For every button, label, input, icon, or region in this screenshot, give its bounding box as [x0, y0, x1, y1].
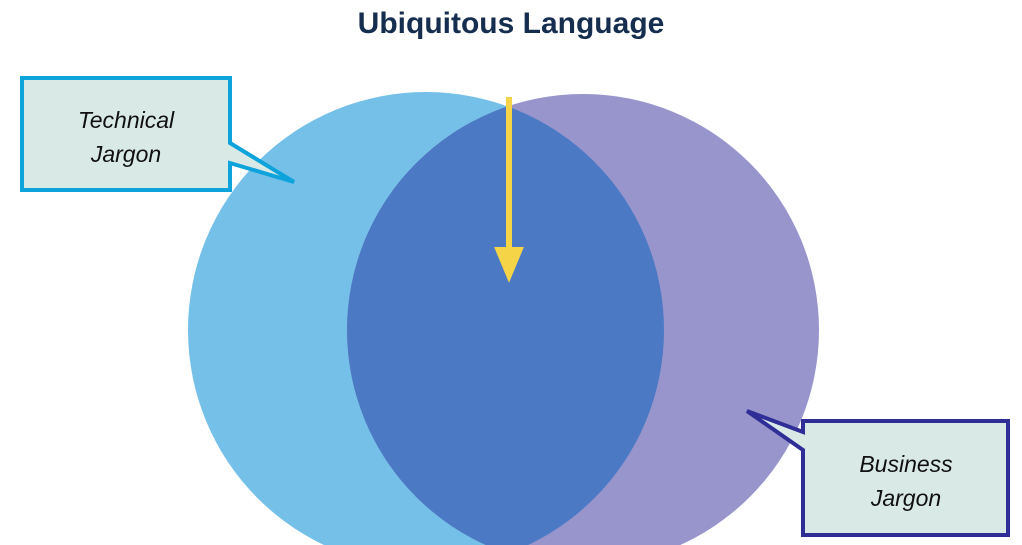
callout-technical-line1: Technical: [78, 107, 175, 133]
venn-diagram-figure: Ubiquitous Language Technical Jargon Bus…: [0, 0, 1022, 545]
callout-business-line1: Business: [859, 451, 953, 477]
callout-business-jargon: Business Jargon: [747, 411, 1008, 535]
callout-business-line2: Jargon: [870, 485, 941, 511]
callout-technical-line2: Jargon: [90, 141, 161, 167]
page-title: Ubiquitous Language: [358, 7, 665, 40]
diagram-canvas: Ubiquitous Language Technical Jargon Bus…: [0, 0, 1022, 545]
